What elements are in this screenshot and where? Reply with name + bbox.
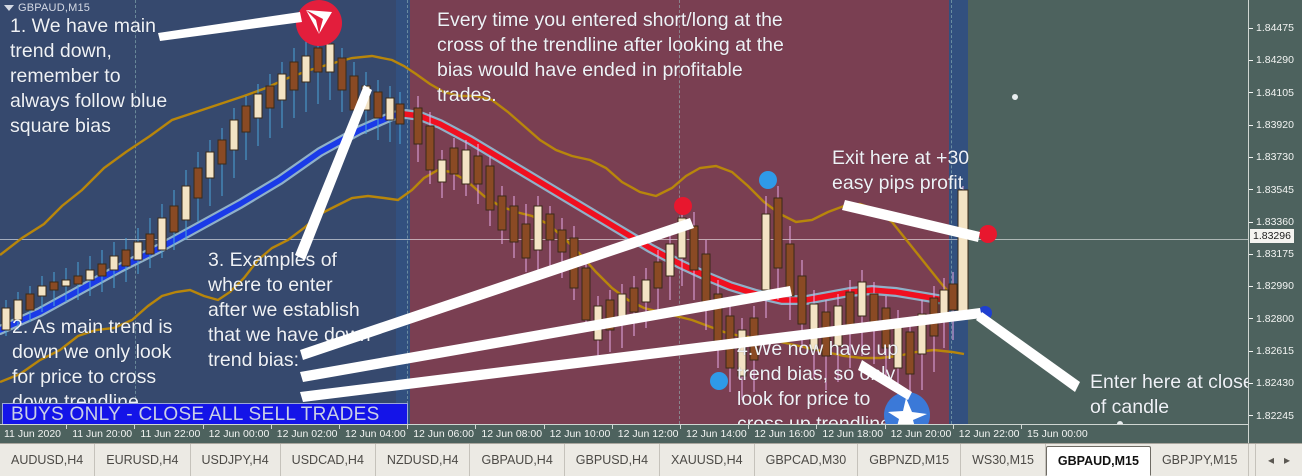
time-axis[interactable]: 11 Jun 202011 Jun 20:0011 Jun 22:0012 Ju… — [0, 424, 1248, 443]
price-plot[interactable]: 1. We have main trend down, remember to … — [0, 0, 1248, 424]
chart-tab[interactable]: GBPJPY,M15 — [1151, 444, 1250, 476]
time-tick: 12 Jun 00:00 — [209, 428, 270, 440]
time-tick-mark — [612, 425, 613, 429]
time-tick-mark — [885, 425, 886, 429]
chart-tab[interactable]: GBPCAD,M30 — [755, 444, 859, 476]
time-tick-mark — [544, 425, 545, 429]
time-tick-mark — [748, 425, 749, 429]
annotation-note-top: Every time you entered short/long at the… — [437, 8, 807, 108]
chart-tab-strip[interactable]: AUDUSD,H4EURUSD,H4USDJPY,H4USDCAD,H4NZDU… — [0, 444, 1255, 476]
chart-tab[interactable]: NZDUSD,H4 — [376, 444, 471, 476]
metatrader-chart-window: 1. We have main trend down, remember to … — [0, 0, 1302, 476]
time-tick: 12 Jun 16:00 — [754, 428, 815, 440]
time-tick: 11 Jun 20:00 — [72, 428, 132, 440]
time-tick-mark — [339, 425, 340, 429]
chart-tab[interactable]: XAUUSD,H4 — [660, 444, 755, 476]
chart-tab[interactable]: USDCAD,H4 — [281, 444, 376, 476]
time-tick: 11 Jun 2020 — [4, 428, 61, 440]
tab-prev-arrow-icon[interactable]: ◂ — [1268, 453, 1274, 467]
chart-tab[interactable]: GBPUSD,H4 — [565, 444, 660, 476]
time-tick-mark — [816, 425, 817, 429]
time-tick: 12 Jun 08:00 — [481, 428, 542, 440]
time-tick: 12 Jun 06:00 — [413, 428, 474, 440]
tab-nav-controls[interactable]: ◂ ▸ — [1255, 444, 1302, 476]
time-tick: 12 Jun 20:00 — [891, 428, 952, 440]
time-tick: 11 Jun 22:00 — [140, 428, 200, 440]
time-tick: 12 Jun 04:00 — [345, 428, 406, 440]
chart-symbol-text: GBPAUD,M15 — [18, 2, 90, 14]
time-tick: 12 Jun 22:00 — [959, 428, 1020, 440]
price-tick: 1.82990 — [1249, 280, 1294, 292]
annotation-note-exit: Exit here at +30 easy pips profit — [832, 146, 1032, 196]
chart-symbol-label[interactable]: GBPAUD,M15 — [4, 2, 90, 14]
current-price-line — [0, 239, 1248, 240]
chart-tab[interactable]: GBPNZD,M15 — [858, 444, 961, 476]
price-tick: 1.82800 — [1249, 313, 1294, 325]
price-tick: 1.84475 — [1249, 22, 1294, 34]
time-tick: 15 Jun 00:00 — [1027, 428, 1088, 440]
chart-tab[interactable]: WS30,M15 — [961, 444, 1046, 476]
price-tick: 1.82430 — [1249, 377, 1294, 389]
zone-future-empty — [968, 0, 1248, 424]
time-tick-mark — [66, 425, 67, 429]
time-tick-mark — [203, 425, 204, 429]
time-tick-mark — [953, 425, 954, 429]
time-tick-mark — [407, 425, 408, 429]
annotation-note-enter: Enter here at close of candle — [1090, 370, 1248, 420]
time-tick-mark — [1021, 425, 1022, 429]
time-tick-mark — [475, 425, 476, 429]
time-tick-mark — [134, 425, 135, 429]
time-tick: 12 Jun 18:00 — [822, 428, 883, 440]
chart-tab[interactable]: GBPAUD,H4 — [470, 444, 564, 476]
price-axis[interactable]: 1.844751.842901.841051.839201.837301.835… — [1248, 0, 1302, 443]
time-tick-mark — [271, 425, 272, 429]
price-tick: 1.82245 — [1249, 410, 1294, 422]
current-price-label: 1.83296 — [1250, 229, 1294, 243]
annotation-note-1: 1. We have main trend down, remember to … — [10, 14, 210, 139]
price-tick: 1.82615 — [1249, 345, 1294, 357]
bias-banner: BUYS ONLY - CLOSE ALL SELL TRADES — [2, 403, 408, 424]
price-tick: 1.83920 — [1249, 119, 1294, 131]
time-tick-mark — [680, 425, 681, 429]
time-tick: 12 Jun 02:00 — [277, 428, 338, 440]
time-tick: 12 Jun 10:00 — [550, 428, 611, 440]
grid-line-vertical — [951, 0, 952, 424]
time-tick: 12 Jun 12:00 — [618, 428, 679, 440]
price-tick: 1.84105 — [1249, 87, 1294, 99]
price-tick: 1.84290 — [1249, 54, 1294, 66]
price-tick: 1.83730 — [1249, 151, 1294, 163]
chart-tab[interactable]: USDJPY,H4 — [191, 444, 281, 476]
chart-tab-active[interactable]: GBPAUD,M15 — [1046, 446, 1151, 476]
red-circle-arrow-logo — [296, 0, 342, 46]
bias-banner-label: BUYS ONLY - CLOSE ALL SELL TRADES — [3, 404, 380, 424]
price-tick: 1.83545 — [1249, 184, 1294, 196]
blue-circle-star-logo — [884, 392, 930, 424]
caret-down-icon[interactable] — [4, 5, 14, 11]
chart-area[interactable]: 1. We have main trend down, remember to … — [0, 0, 1302, 443]
annotation-note-2: 2. As main trend is down we only look fo… — [12, 315, 212, 415]
price-tick: 1.83360 — [1249, 216, 1294, 228]
annotation-note-3: 3. Examples of where to enter after we e… — [208, 248, 408, 373]
chart-tab[interactable]: AUDUSD,H4 — [0, 444, 95, 476]
price-tick: 1.83175 — [1249, 248, 1294, 260]
chart-tab[interactable]: EURUSD,H4 — [95, 444, 190, 476]
chart-tab-bar[interactable]: AUDUSD,H4EURUSD,H4USDJPY,H4USDCAD,H4NZDU… — [0, 443, 1302, 476]
tab-next-arrow-icon[interactable]: ▸ — [1284, 453, 1290, 467]
time-tick: 12 Jun 14:00 — [686, 428, 747, 440]
